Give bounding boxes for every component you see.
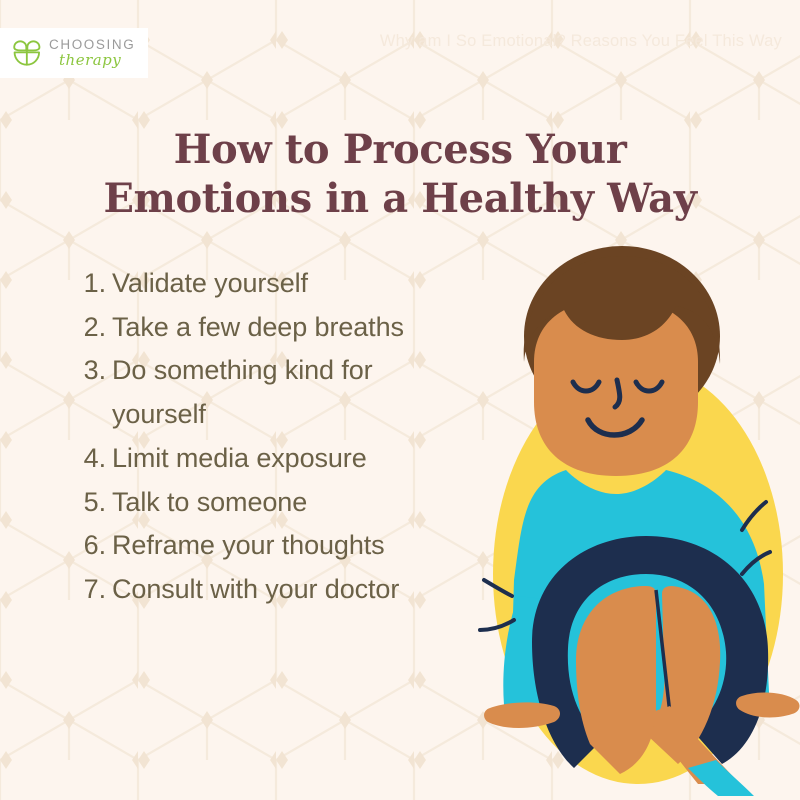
page-title-line-2: Emotions in a Healthy Way [103, 175, 696, 222]
page-title: How to Process Your Emotions in a Health… [60, 125, 740, 223]
list-item-number: 3. [78, 349, 112, 393]
logo-wordmark: CHOOSING therapy [49, 38, 135, 68]
list-item: 5. Talk to someone [78, 481, 448, 525]
seated-person-illustration [470, 244, 800, 800]
logo-primary-text: CHOOSING [49, 38, 135, 52]
list-item-number: 1. [78, 262, 112, 306]
list-item: 3. Do something kind for yourself [78, 349, 448, 436]
list-item-label: Limit media exposure [112, 437, 448, 481]
choosing-therapy-logo[interactable]: CHOOSING therapy [0, 28, 148, 78]
list-item: 6. Reframe your thoughts [78, 524, 448, 568]
list-item-label: Do something kind for yourself [112, 349, 448, 436]
list-item-number: 2. [78, 306, 112, 350]
article-eyebrow-title: Why am I So Emotional? Reasons You Feel … [380, 32, 782, 51]
page-title-line-1: How to Process Your [174, 126, 627, 173]
list-item-label: Talk to someone [112, 481, 448, 525]
logo-script-text: therapy [59, 53, 135, 68]
list-item-number: 5. [78, 481, 112, 525]
list-item: 2. Take a few deep breaths [78, 306, 448, 350]
list-item: 1. Validate yourself [78, 262, 448, 306]
list-item-number: 6. [78, 524, 112, 568]
leaf-icon [12, 39, 42, 67]
list-item: 7. Consult with your doctor [78, 568, 448, 612]
list-item: 4. Limit media exposure [78, 437, 448, 481]
list-item-label: Reframe your thoughts [112, 524, 448, 568]
infographic-canvas: CHOOSING therapy Why am I So Emotional? … [0, 0, 800, 800]
list-item-number: 7. [78, 568, 112, 612]
list-item-label: Take a few deep breaths [112, 306, 448, 350]
list-item-label: Consult with your doctor [112, 568, 448, 612]
tips-list: 1. Validate yourself 2. Take a few deep … [78, 262, 448, 612]
list-item-label: Validate yourself [112, 262, 448, 306]
list-item-number: 4. [78, 437, 112, 481]
